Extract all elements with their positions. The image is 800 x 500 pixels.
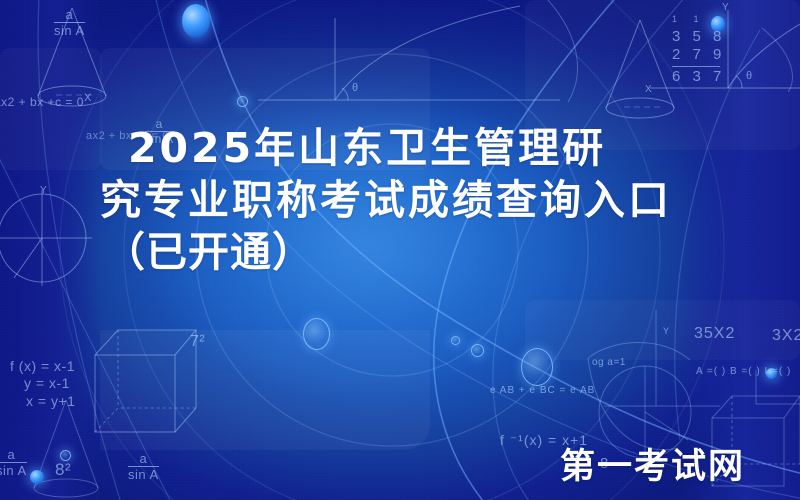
title-line-1: 2025年山东卫生管理研 bbox=[128, 122, 728, 174]
title-line-2: 究专业职称考试成绩查询入口 bbox=[100, 174, 728, 226]
banner-title: 2025年山东卫生管理研 究专业职称考试成绩查询入口 （已开通） bbox=[128, 122, 728, 278]
title-line-3: （已开通） bbox=[104, 226, 728, 278]
exam-banner: .ln{fill:none;stroke:rgba(176,210,250,.4… bbox=[0, 0, 800, 500]
site-watermark: 第一考试网 bbox=[560, 447, 745, 487]
